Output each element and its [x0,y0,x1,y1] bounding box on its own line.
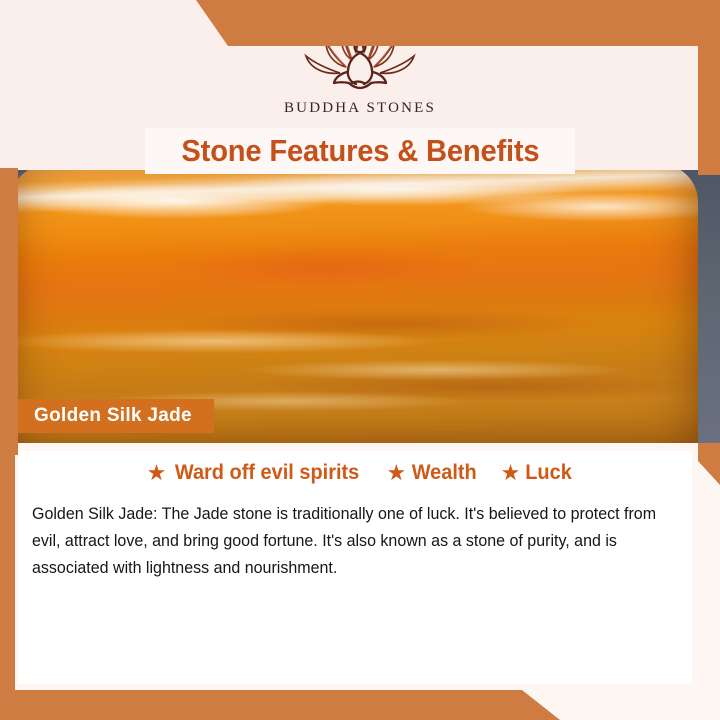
page-title-banner: Stone Features & Benefits [145,128,575,174]
stone-description: Golden Silk Jade: The Jade stone is trad… [32,501,671,582]
benefit-label: Luck [526,461,573,485]
benefit-label: Wealth [412,461,477,485]
star-icon: ★ [501,462,521,484]
decorative-left-bar-lower [0,455,15,692]
star-icon: ★ [147,462,167,484]
decorative-bottom-bar [0,690,560,720]
benefits-list: ★ Ward off evil spirits ★ Wealth ★ Luck [0,461,720,485]
benefit-item: ★ Wealth [386,461,478,485]
brand-name: BUDDHA STONES [284,100,436,117]
page-title: Stone Features & Benefits [181,133,539,169]
benefit-item: ★ Luck [501,461,574,485]
stone-caption-badge: Golden Silk Jade [14,399,214,433]
stone-caption-label: Golden Silk Jade [34,405,192,427]
benefit-label: Ward off evil spirits [175,461,359,485]
content-section: ★ Ward off evil spirits ★ Wealth ★ Luck … [0,443,720,720]
decorative-left-bar-upper [0,168,18,455]
benefit-item: ★ Ward off evil spirits [147,461,365,485]
star-icon: ★ [386,462,406,484]
decorative-right-bar-upper [698,0,720,175]
stone-features-poster: BUDDHA STONES Stone Features & Benefits … [0,0,720,720]
stone-photo: Golden Silk Jade [0,170,720,443]
